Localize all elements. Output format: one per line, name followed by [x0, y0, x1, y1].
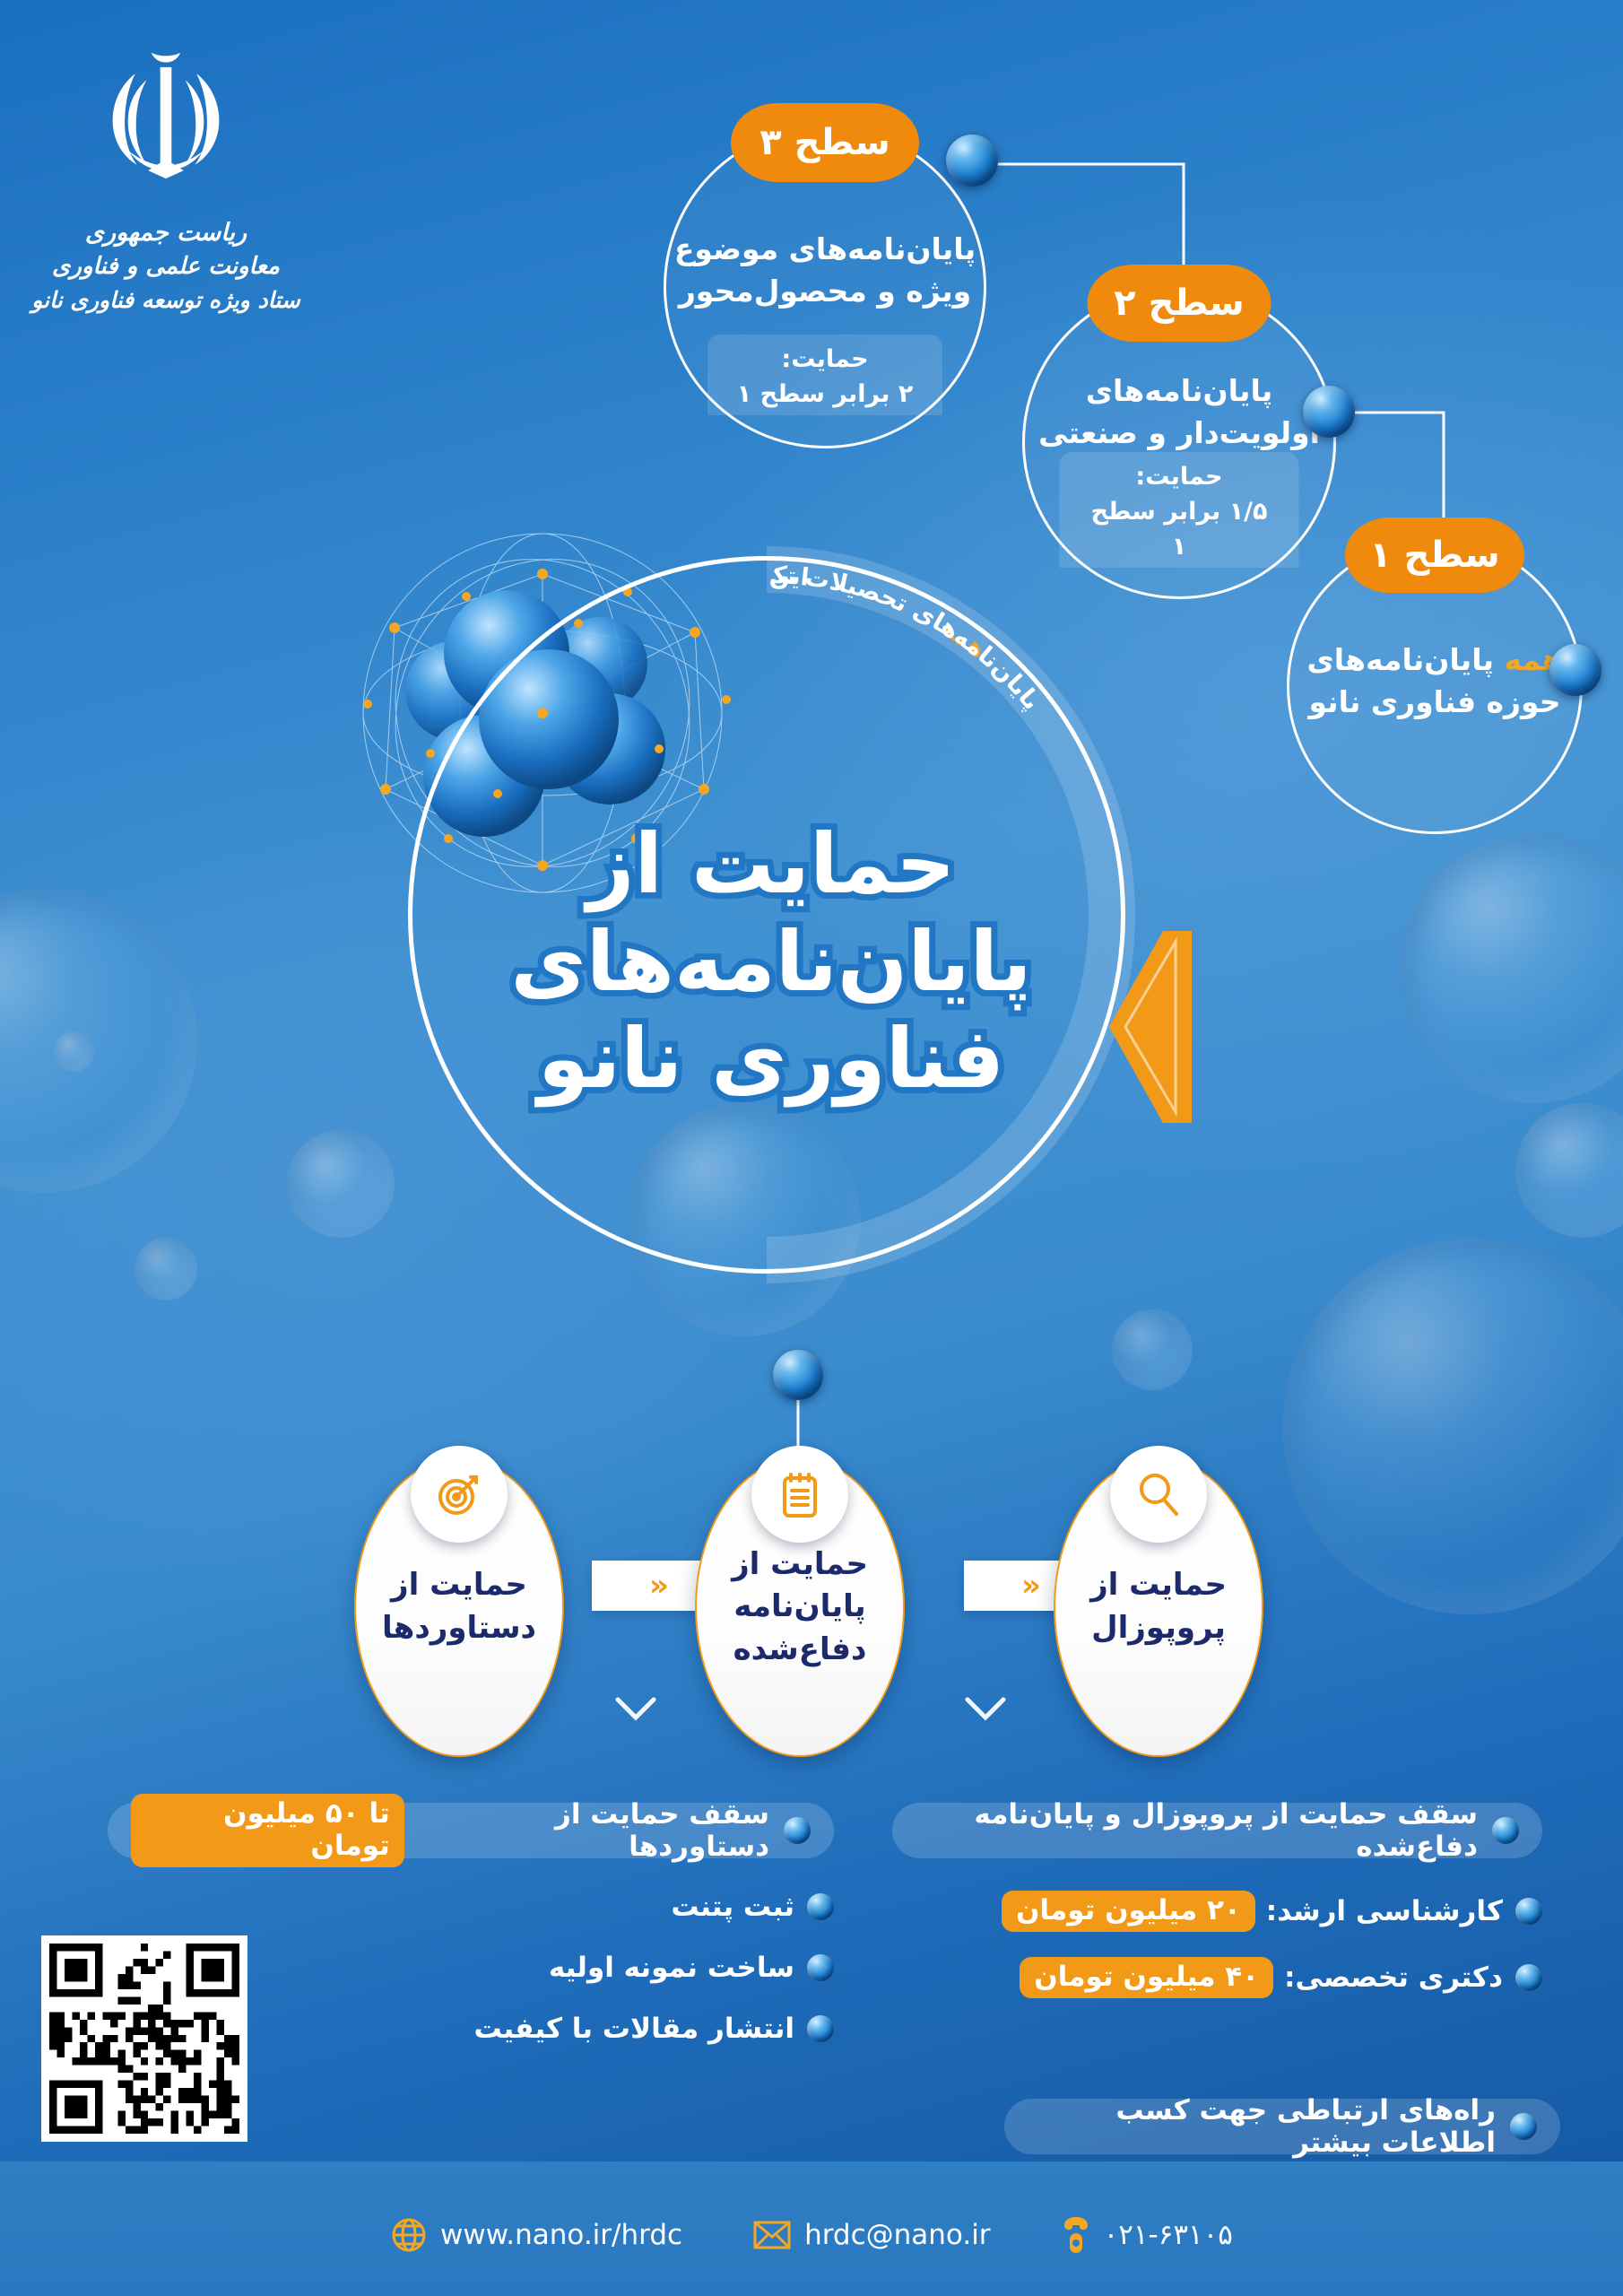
- level-3-support-label: حمایت:: [781, 345, 868, 373]
- papers-label: انتشار مقالات با کیفیت: [474, 2013, 794, 2045]
- bullet-orb-icon: [1492, 1817, 1519, 1844]
- decorative-bubble: [54, 1031, 94, 1072]
- level-2-node-orb: [1303, 386, 1355, 438]
- defended-line-2: پایان‌نامه: [733, 1588, 865, 1624]
- masters-label: کارشناسی ارشد:: [1266, 1895, 1503, 1927]
- decorative-bubble: [0, 888, 197, 1193]
- page-title: حمایت از پایان‌نامه‌های فناوری نانو: [502, 816, 1040, 1109]
- bullet-orb-icon: [807, 1954, 834, 1981]
- level-3-node-orb: [946, 135, 998, 187]
- bullet-orb-icon: [1510, 2113, 1537, 2140]
- down-arrow-right: [962, 1686, 1009, 1735]
- level-2-body-line-1: پایان‌نامه‌های: [1025, 370, 1333, 413]
- magnifier-icon: [1110, 1446, 1207, 1543]
- target-icon: [411, 1446, 508, 1543]
- decorative-bubble: [1515, 1103, 1623, 1238]
- level-2-support-label: حمایت:: [1135, 463, 1222, 491]
- decorative-bubble: [135, 1238, 197, 1300]
- level-1-body-rest: پایان‌نامه‌های: [1307, 642, 1505, 677]
- defended-line-1: حمایت از: [732, 1546, 868, 1582]
- decorative-bubble: [1282, 1238, 1623, 1614]
- bullet-orb-icon: [1515, 1898, 1542, 1925]
- level-2-body: پایان‌نامه‌های اولویت‌دار و صنعتی: [1025, 370, 1333, 455]
- level-2-badge: سطح ۲: [1088, 265, 1271, 342]
- bullet-orb-icon: [807, 2015, 834, 2042]
- circle-bottom-orb: [773, 1350, 823, 1400]
- achievements-item-patent: ثبت پتنت: [671, 1891, 834, 1923]
- level-3-support-amount: ۲ برابر سطح ۱: [731, 377, 919, 412]
- patent-label: ثبت پتنت: [671, 1891, 794, 1923]
- footer-contact-row: www.nano.ir/hrdc hrdc@nano.ir ۰۲۱-۶۳۱۰۵: [0, 2215, 1623, 2255]
- decorative-bubble: [1112, 1309, 1193, 1390]
- process-step-achievements-label: حمایت از دستاوردها: [382, 1564, 536, 1649]
- globe-icon: [390, 2216, 428, 2254]
- level-2-badge-label: سطح ۲: [1114, 283, 1244, 324]
- level-3-body-line-2: ویژه و محصول‌محور: [666, 271, 984, 313]
- level-1-circle: سطح ۱ همه پایان‌نامه‌های حوزه فناوری نان…: [1287, 538, 1583, 834]
- svg-text:این حمایت شامل: این حمایت شامل: [386, 534, 811, 592]
- qr-code-image: [49, 1944, 239, 2134]
- contact-email[interactable]: hrdc@nano.ir: [752, 2219, 991, 2251]
- level-1-node-orb: [1549, 644, 1601, 696]
- poster-canvas: ریاست جمهوری معاونت علمی و فناوری ستاد و…: [0, 0, 1623, 2296]
- contact-phone[interactable]: ۰۲۱-۶۳۱۰۵: [1061, 2215, 1233, 2255]
- level-3-body: پایان‌نامه‌های موضوع ویژه و محصول‌محور: [666, 229, 984, 313]
- bullet-orb-icon: [1515, 1964, 1542, 1991]
- svg-text:پایان‌نامه‌های تحصیلات تکمیلی: پایان‌نامه‌های تحصیلات تکمیلی حوزه فناور…: [386, 534, 1046, 716]
- title-line-2: پایان‌نامه‌های: [502, 914, 1040, 1012]
- achievements-line-2: دستاوردها: [382, 1610, 536, 1646]
- contact-website-label: www.nano.ir/hrdc: [440, 2219, 682, 2251]
- down-arrow-left: [612, 1686, 659, 1735]
- prototype-label: ساخت نمونه اولیه: [549, 1952, 794, 1984]
- masters-amount: ۲۰ میلیون تومان: [1002, 1891, 1255, 1932]
- support-proposal-header-label: سقف حمایت از پروپوزال و پایان‌نامه دفاع‌…: [916, 1798, 1478, 1863]
- level-3-badge: سطح ۳: [731, 103, 919, 182]
- level-1-body-line-1: همه پایان‌نامه‌های: [1289, 639, 1580, 682]
- support-proposal-item-phd: دکتری تخصصی: ۴۰ میلیون تومان: [1020, 1957, 1542, 1998]
- process-chevron-left: «: [649, 1570, 669, 1601]
- proposal-line-1: حمایت از: [1090, 1567, 1227, 1603]
- level-3-circle: سطح ۳ پایان‌نامه‌های موضوع ویژه و محصول‌…: [664, 126, 986, 448]
- level-1-badge-label: سطح ۱: [1369, 535, 1499, 576]
- clipboard-icon: [751, 1446, 848, 1543]
- achievements-item-prototype: ساخت نمونه اولیه: [549, 1952, 834, 1984]
- title-line-1: حمایت از: [502, 816, 1040, 914]
- title-line-3: فناوری نانو: [502, 1011, 1040, 1109]
- support-proposal-item-masters: کارشناسی ارشد: ۲۰ میلیون تومان: [1002, 1891, 1542, 1932]
- footer-contact-header-label: راه‌های ارتباطی جهت کسب اطلاعات بیشتر: [1028, 2094, 1496, 2159]
- process-step-proposal-label: حمایت از پروپوزال: [1090, 1564, 1227, 1649]
- level-3-badge-label: سطح ۳: [759, 122, 890, 163]
- bullet-orb-icon: [784, 1817, 811, 1844]
- achievements-item-papers: انتشار مقالات با کیفیت: [474, 2013, 834, 2045]
- level-1-body: همه پایان‌نامه‌های حوزه فناوری نانو: [1289, 639, 1580, 724]
- qr-code[interactable]: [41, 1935, 247, 2142]
- envelope-icon: [752, 2219, 792, 2251]
- footer-contact-header-pill: راه‌های ارتباطی جهت کسب اطلاعات بیشتر: [1004, 2099, 1560, 2154]
- level-1-badge: سطح ۱: [1345, 517, 1524, 593]
- support-achievements-header-label: سقف حمایت از دستاوردها: [421, 1798, 769, 1863]
- level-1-body-line-2: حوزه فناوری نانو: [1289, 682, 1580, 724]
- support-achievements-header-pill: سقف حمایت از دستاوردها تا ۵۰ میلیون توما…: [108, 1803, 834, 1858]
- process-step-defended-thesis-label: حمایت از پایان‌نامه دفاع‌شده: [732, 1544, 868, 1672]
- phd-amount: ۴۰ میلیون تومان: [1020, 1957, 1273, 1998]
- level-3-support: حمایت: ۲ برابر سطح ۱: [707, 335, 942, 415]
- bullet-orb-icon: [807, 1893, 834, 1920]
- decorative-bubble: [287, 1130, 395, 1238]
- proposal-line-2: پروپوزال: [1091, 1610, 1226, 1646]
- level-3-body-line-1: پایان‌نامه‌های موضوع: [666, 229, 984, 271]
- contact-website[interactable]: www.nano.ir/hrdc: [390, 2216, 682, 2254]
- level-2-body-line-2: اولویت‌دار و صنعتی: [1025, 413, 1333, 455]
- support-achievements-amount: تا ۵۰ میلیون تومان: [131, 1794, 404, 1867]
- support-proposal-header-pill: سقف حمایت از پروپوزال و پایان‌نامه دفاع‌…: [892, 1803, 1542, 1858]
- achievements-line-1: حمایت از: [391, 1567, 527, 1603]
- orange-chevron-mark: [1098, 924, 1197, 1130]
- contact-phone-label: ۰۲۱-۶۳۱۰۵: [1104, 2219, 1233, 2251]
- phd-label: دکتری تخصصی:: [1284, 1961, 1503, 1994]
- telephone-icon: [1061, 2215, 1091, 2255]
- defended-line-3: دفاع‌شده: [733, 1631, 867, 1667]
- process-chevron-right: «: [1021, 1570, 1041, 1601]
- contact-email-label: hrdc@nano.ir: [804, 2219, 991, 2251]
